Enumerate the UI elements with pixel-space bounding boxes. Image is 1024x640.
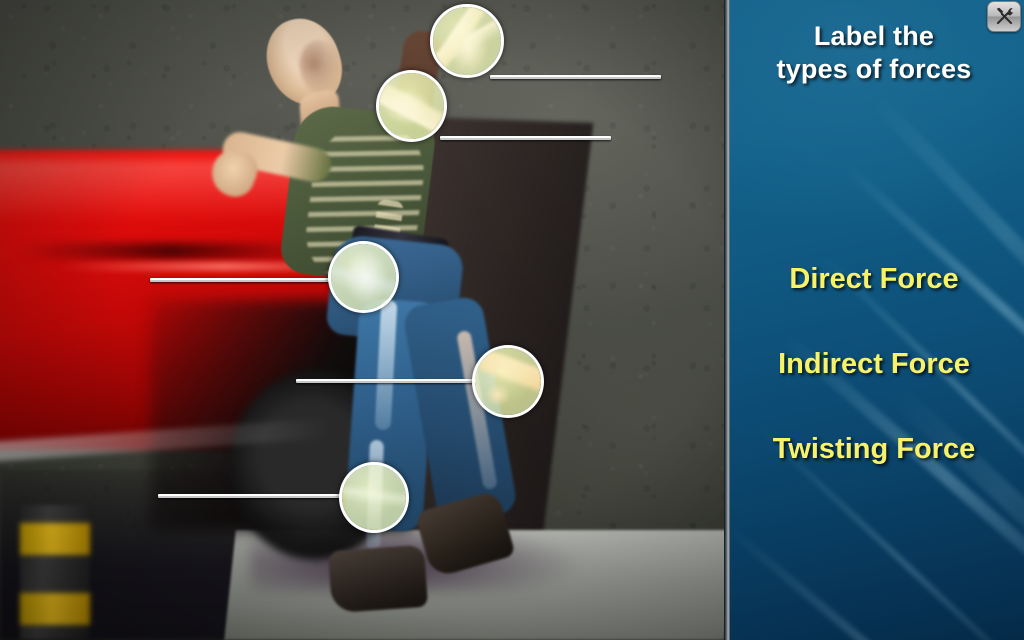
answer-line-hip[interactable] [150, 278, 330, 282]
hotspot-glow [475, 348, 541, 415]
hotspot-hip[interactable] [328, 241, 399, 313]
answer-line-knee[interactable] [296, 379, 476, 383]
hotspot-glow [331, 244, 396, 310]
scene-vignette [0, 0, 724, 640]
tools-icon [994, 6, 1015, 27]
tools-button[interactable] [987, 1, 1021, 32]
hotspot-knee[interactable] [472, 345, 544, 418]
hotspot-glow [379, 73, 444, 139]
answer-line-lower-leg[interactable] [158, 494, 342, 498]
hotspot-glow [433, 7, 501, 75]
force-option-direct[interactable]: Direct Force [724, 263, 1024, 296]
app-root: Label the types of forces Direct Force I… [0, 0, 1024, 640]
answer-panel: Label the types of forces Direct Force I… [724, 0, 1024, 640]
answer-line-elbow[interactable] [440, 136, 611, 140]
hotspot-elbow[interactable] [376, 70, 447, 142]
force-option-indirect[interactable]: Indirect Force [724, 348, 1024, 381]
hotspot-glow [342, 465, 406, 530]
illustration-scene [0, 0, 724, 640]
hammer-head [996, 8, 1002, 14]
hotspot-lower-leg[interactable] [339, 462, 409, 533]
force-option-twisting[interactable]: Twisting Force [724, 433, 1024, 466]
hotspot-wrist[interactable] [430, 4, 504, 78]
force-options-list: Direct Force Indirect Force Twisting For… [724, 0, 1024, 640]
answer-line-wrist[interactable] [490, 75, 661, 79]
